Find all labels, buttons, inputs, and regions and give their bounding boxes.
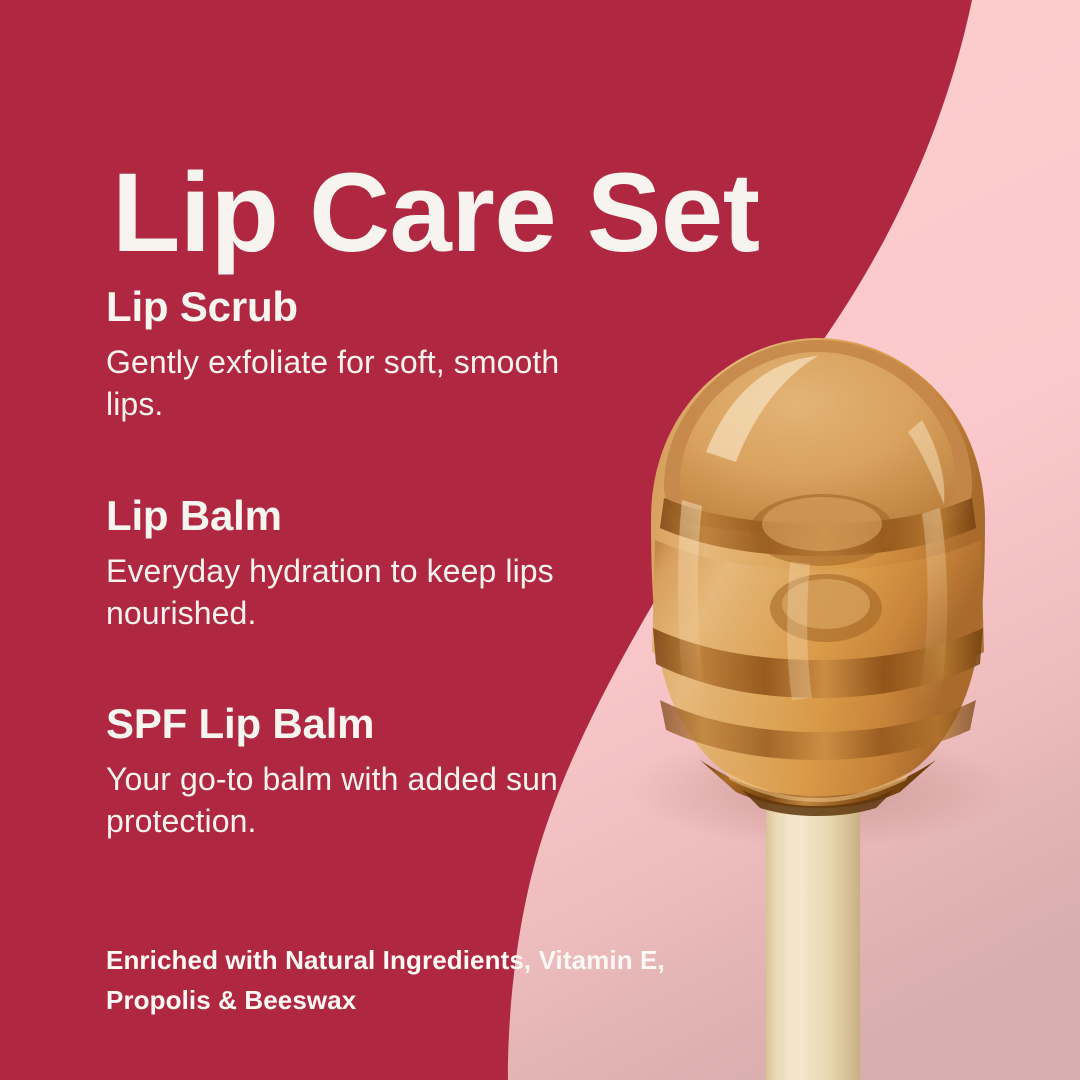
feature-title-lip-scrub: Lip Scrub: [106, 283, 576, 330]
ingredients-footnote: Enriched with Natural Ingredients, Vitam…: [106, 940, 766, 1021]
feature-description-spf-lip-balm: Your go-to balm with added sun protectio…: [106, 759, 576, 842]
feature-description-lip-balm: Everyday hydration to keep lips nourishe…: [106, 551, 576, 634]
feature-item-lip-balm: Lip Balm Everyday hydration to keep lips…: [106, 492, 576, 634]
feature-item-spf-lip-balm: SPF Lip Balm Your go-to balm with added …: [106, 700, 576, 842]
feature-title-lip-balm: Lip Balm: [106, 492, 576, 539]
content-layer: Lip Care Set Lip Scrub Gently exfoliate …: [0, 0, 1080, 1080]
feature-item-lip-scrub: Lip Scrub Gently exfoliate for soft, smo…: [106, 283, 576, 425]
feature-title-spf-lip-balm: SPF Lip Balm: [106, 700, 576, 747]
feature-description-lip-scrub: Gently exfoliate for soft, smooth lips.: [106, 342, 576, 425]
lip-care-set-poster: Lip Care Set Lip Scrub Gently exfoliate …: [0, 0, 1080, 1080]
page-title: Lip Care Set: [112, 157, 760, 269]
